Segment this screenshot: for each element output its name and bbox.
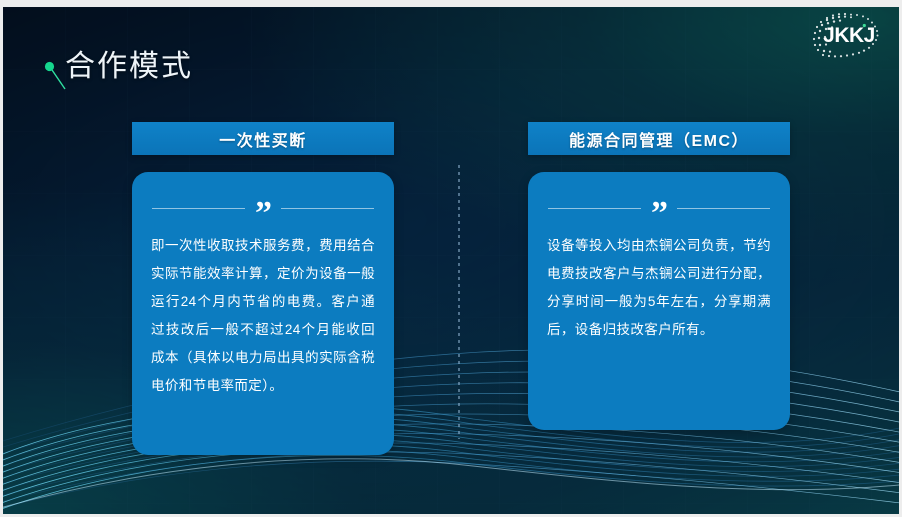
card-text-left: 即一次性收取技术服务费，费用结合实际节能效率计算，定价为设备一般运行24个月内节… — [132, 222, 394, 400]
quote-divider-left: ” — [132, 172, 394, 222]
card-header-left[interactable]: 一次性买断 — [132, 122, 394, 155]
card-text-right: 设备等投入均由杰锎公司负责，节约电费技改客户与杰锎公司进行分配，分享时间一般为5… — [528, 222, 790, 344]
card-body-left: ” 即一次性收取技术服务费，费用结合实际节能效率计算，定价为设备一般运行24个月… — [132, 172, 394, 455]
page-title: 合作模式 — [43, 45, 423, 91]
card-header-left-label: 一次性买断 — [219, 127, 307, 151]
page-title-text: 合作模式 — [65, 41, 193, 85]
quote-line-left-end — [281, 208, 374, 209]
quote-line-right-end — [677, 208, 770, 209]
card-header-right[interactable]: 能源合同管理（EMC） — [528, 122, 790, 155]
svg-text:JKKJ: JKKJ — [823, 24, 875, 47]
column-divider — [458, 165, 460, 439]
quote-divider-right: ” — [528, 172, 790, 222]
card-header-right-label: 能源合同管理（EMC） — [569, 127, 749, 151]
quote-line-right-start — [548, 208, 641, 209]
company-logo: JKKJ — [807, 9, 885, 61]
slide-canvas: JKKJ 合作模式 一次性买断 — [3, 7, 899, 514]
quote-mark-icon: ” — [255, 204, 271, 224]
quote-line-left-start — [152, 208, 245, 209]
quote-mark-icon: ” — [651, 204, 667, 224]
card-body-right: ” 设备等投入均由杰锎公司负责，节约电费技改客户与杰锎公司进行分配，分享时间一般… — [528, 172, 790, 430]
